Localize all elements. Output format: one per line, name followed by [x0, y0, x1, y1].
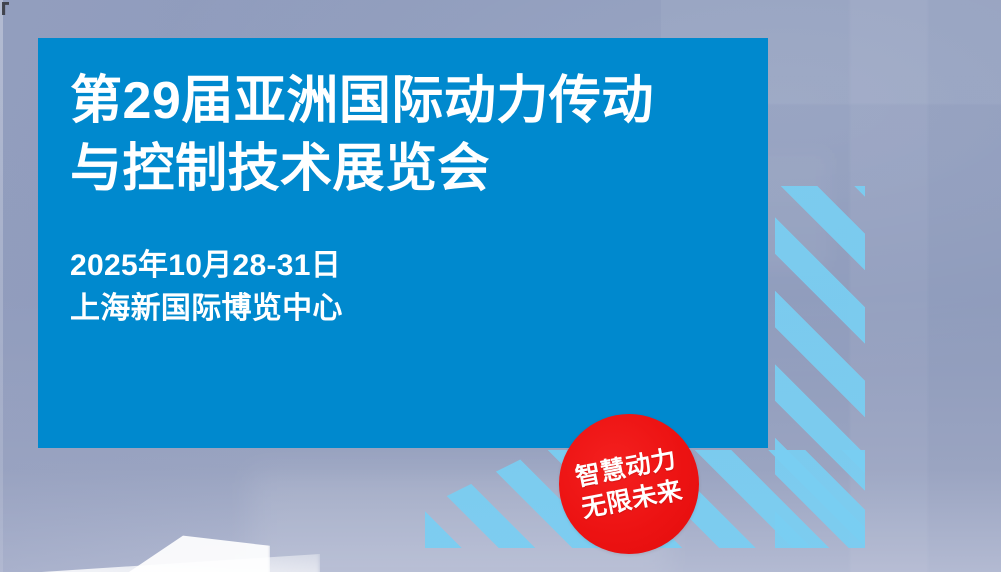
frame-left-edge	[0, 0, 3, 572]
event-date: 2025年10月28-31日	[70, 245, 748, 288]
page-title: 第29届亚洲国际动力传动 与控制技术展览会	[70, 68, 748, 203]
title-line-1: 第29届亚洲国际动力传动	[70, 68, 748, 136]
exhibition-poster: 第29届亚洲国际动力传动 与控制技术展览会 2025年10月28-31日 上海新…	[0, 0, 1001, 572]
title-line-2: 与控制技术展览会	[70, 136, 748, 204]
event-details: 2025年10月28-31日 上海新国际博览中心	[70, 245, 748, 330]
title-panel: 第29届亚洲国际动力传动 与控制技术展览会 2025年10月28-31日 上海新…	[38, 38, 768, 448]
title-panel-content: 第29届亚洲国际动力传动 与控制技术展览会 2025年10月28-31日 上海新…	[70, 68, 748, 330]
event-venue: 上海新国际博览中心	[70, 288, 748, 331]
